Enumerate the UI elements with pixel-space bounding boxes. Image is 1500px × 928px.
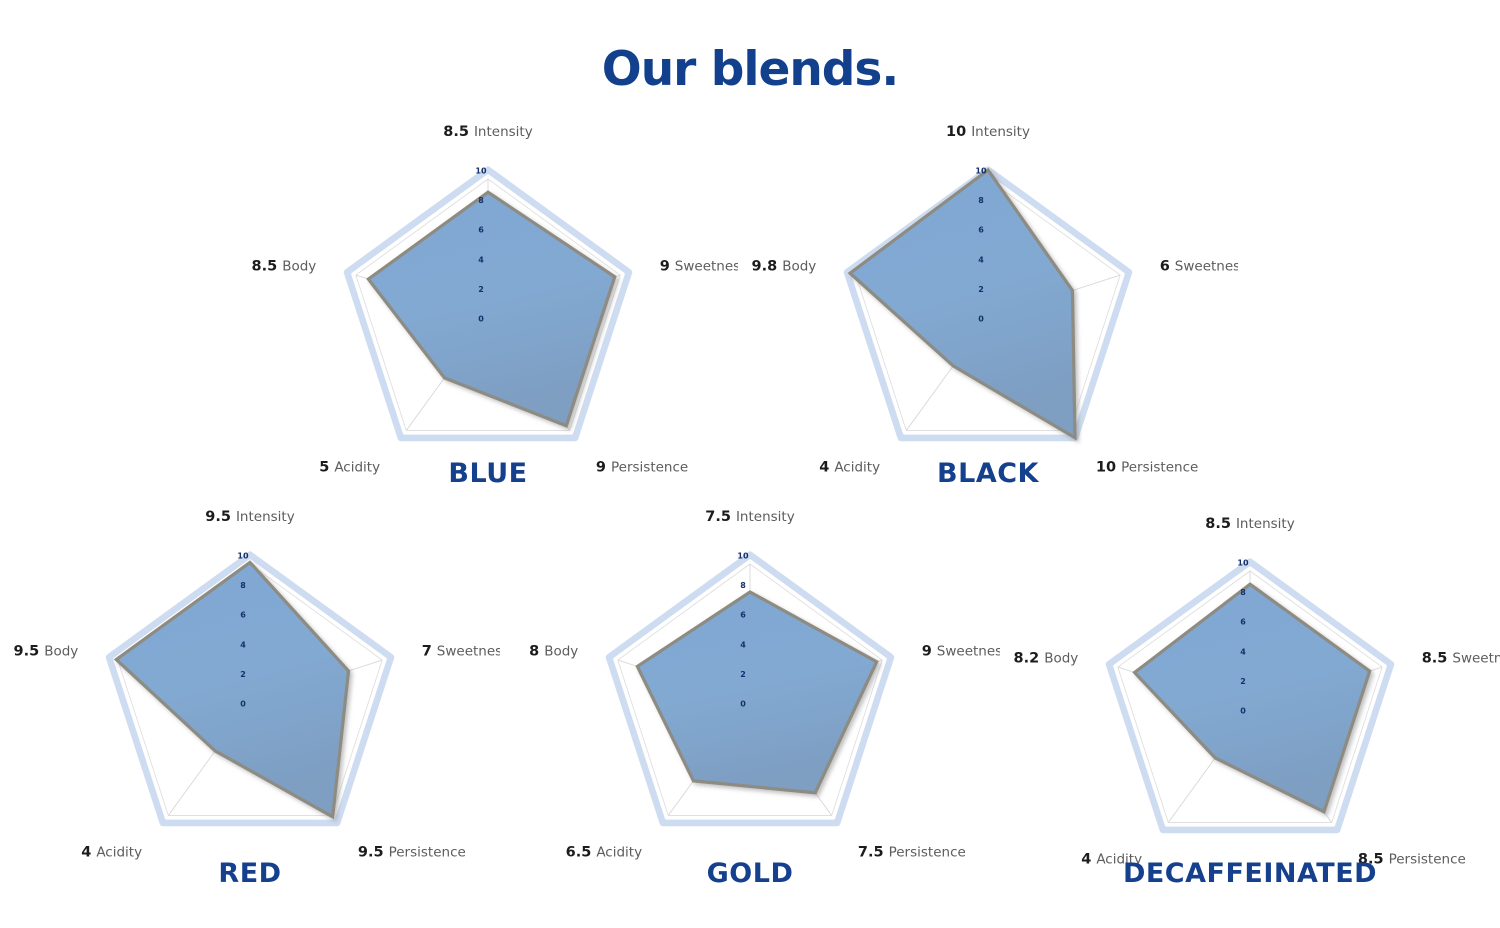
axis-value-body: 8.2 bbox=[1014, 651, 1040, 667]
tick-label-4: 4 bbox=[240, 640, 246, 649]
tick-label-6: 6 bbox=[1240, 618, 1246, 627]
radar-chart-gold: 10864207.5Intensity9Sweetness7.5Persiste… bbox=[500, 503, 1000, 903]
tick-label-2: 2 bbox=[978, 285, 984, 294]
axis-label-body: 8.5Body bbox=[252, 259, 317, 275]
tick-label-4: 4 bbox=[978, 255, 984, 264]
axis-name-sweetness: Sweetness bbox=[1452, 651, 1500, 667]
radar-chart-decaffeinated: 10864208.5Intensity8.5Sweetness8.5Persis… bbox=[1000, 510, 1500, 910]
axis-label-sweetness: 9Sweetness bbox=[660, 259, 738, 275]
tick-label-10: 10 bbox=[237, 552, 249, 561]
tick-label-6: 6 bbox=[740, 611, 746, 620]
axis-name-sweetness: Sweetness bbox=[437, 644, 500, 660]
axis-value-sweetness: 9 bbox=[660, 259, 670, 275]
tick-label-8: 8 bbox=[740, 581, 746, 590]
tick-label-4: 4 bbox=[740, 640, 746, 649]
blend-name-black: BLACK bbox=[738, 458, 1238, 489]
axis-value-sweetness: 8.5 bbox=[1422, 651, 1448, 667]
tick-label-0: 0 bbox=[240, 700, 246, 709]
axis-value-sweetness: 9 bbox=[922, 644, 932, 660]
axis-name-sweetness: Sweetness bbox=[937, 644, 1000, 660]
tick-label-2: 2 bbox=[478, 285, 484, 294]
axis-name-sweetness: Sweetness bbox=[675, 259, 738, 275]
page-title: Our blends. bbox=[0, 42, 1500, 97]
tick-label-6: 6 bbox=[240, 611, 246, 620]
tick-label-2: 2 bbox=[1240, 677, 1246, 686]
tick-label-0: 0 bbox=[1240, 707, 1246, 716]
axis-label-intensity: 8.5Intensity bbox=[1205, 516, 1294, 532]
tick-label-6: 6 bbox=[978, 226, 984, 235]
axis-value-sweetness: 7 bbox=[422, 644, 432, 660]
radar-chart-red: 10864209.5Intensity7Sweetness9.5Persiste… bbox=[0, 503, 500, 903]
tick-label-8: 8 bbox=[240, 581, 246, 590]
blend-name-gold: GOLD bbox=[500, 858, 1000, 889]
blend-name-decaffeinated: DECAFFEINATED bbox=[1000, 858, 1500, 889]
axis-label-intensity: 8.5Intensity bbox=[443, 124, 532, 140]
axis-value-intensity: 8.5 bbox=[1205, 516, 1231, 532]
tick-label-8: 8 bbox=[1240, 588, 1246, 597]
axis-name-body: Body bbox=[782, 259, 816, 275]
tick-label-0: 0 bbox=[978, 315, 984, 324]
axis-label-sweetness: 6Sweetness bbox=[1160, 259, 1238, 275]
radar-chart-black: 108642010Intensity6Sweetness10Persistenc… bbox=[738, 118, 1238, 518]
axis-name-body: Body bbox=[282, 259, 316, 275]
axis-label-intensity: 7.5Intensity bbox=[705, 509, 794, 525]
tick-label-0: 0 bbox=[478, 315, 484, 324]
tick-label-8: 8 bbox=[978, 196, 984, 205]
axis-name-body: Body bbox=[44, 644, 78, 660]
axis-label-body: 8.2Body bbox=[1014, 651, 1079, 667]
axis-label-body: 9.5Body bbox=[14, 644, 79, 660]
axis-value-body: 9.8 bbox=[752, 259, 778, 275]
axis-label-body: 8Body bbox=[529, 644, 578, 660]
axis-value-intensity: 8.5 bbox=[443, 124, 469, 140]
axis-value-intensity: 10 bbox=[946, 124, 966, 140]
axis-label-sweetness: 9Sweetness bbox=[922, 644, 1000, 660]
axis-value-sweetness: 6 bbox=[1160, 259, 1170, 275]
blend-charts-grid: 10864208.5Intensity9Sweetness9Persistenc… bbox=[0, 118, 1500, 928]
tick-label-10: 10 bbox=[475, 167, 487, 176]
tick-label-6: 6 bbox=[478, 226, 484, 235]
tick-label-4: 4 bbox=[478, 255, 484, 264]
tick-label-4: 4 bbox=[1240, 647, 1246, 656]
axis-label-body: 9.8Body bbox=[752, 259, 817, 275]
axis-value-body: 8 bbox=[529, 644, 539, 660]
tick-label-10: 10 bbox=[1237, 559, 1249, 568]
axis-value-body: 9.5 bbox=[14, 644, 40, 660]
blend-name-blue: BLUE bbox=[238, 458, 738, 489]
tick-label-8: 8 bbox=[478, 196, 484, 205]
tick-label-2: 2 bbox=[240, 670, 246, 679]
axis-name-intensity: Intensity bbox=[236, 509, 295, 525]
radar-chart-blue: 10864208.5Intensity9Sweetness9Persistenc… bbox=[238, 118, 738, 518]
axis-name-intensity: Intensity bbox=[1236, 516, 1295, 532]
axis-name-sweetness: Sweetness bbox=[1175, 259, 1238, 275]
axis-label-intensity: 10Intensity bbox=[946, 124, 1030, 140]
tick-label-10: 10 bbox=[975, 167, 987, 176]
axis-value-intensity: 7.5 bbox=[705, 509, 731, 525]
axis-label-intensity: 9.5Intensity bbox=[205, 509, 294, 525]
axis-name-intensity: Intensity bbox=[971, 124, 1030, 140]
tick-label-10: 10 bbox=[737, 552, 749, 561]
axis-label-sweetness: 8.5Sweetness bbox=[1422, 651, 1500, 667]
axis-label-sweetness: 7Sweetness bbox=[422, 644, 500, 660]
axis-name-body: Body bbox=[1044, 651, 1078, 667]
blend-name-red: RED bbox=[0, 858, 500, 889]
axis-value-intensity: 9.5 bbox=[205, 509, 231, 525]
tick-label-2: 2 bbox=[740, 670, 746, 679]
axis-name-body: Body bbox=[544, 644, 578, 660]
axis-value-body: 8.5 bbox=[252, 259, 278, 275]
axis-name-intensity: Intensity bbox=[474, 124, 533, 140]
tick-label-0: 0 bbox=[740, 700, 746, 709]
axis-name-intensity: Intensity bbox=[736, 509, 795, 525]
